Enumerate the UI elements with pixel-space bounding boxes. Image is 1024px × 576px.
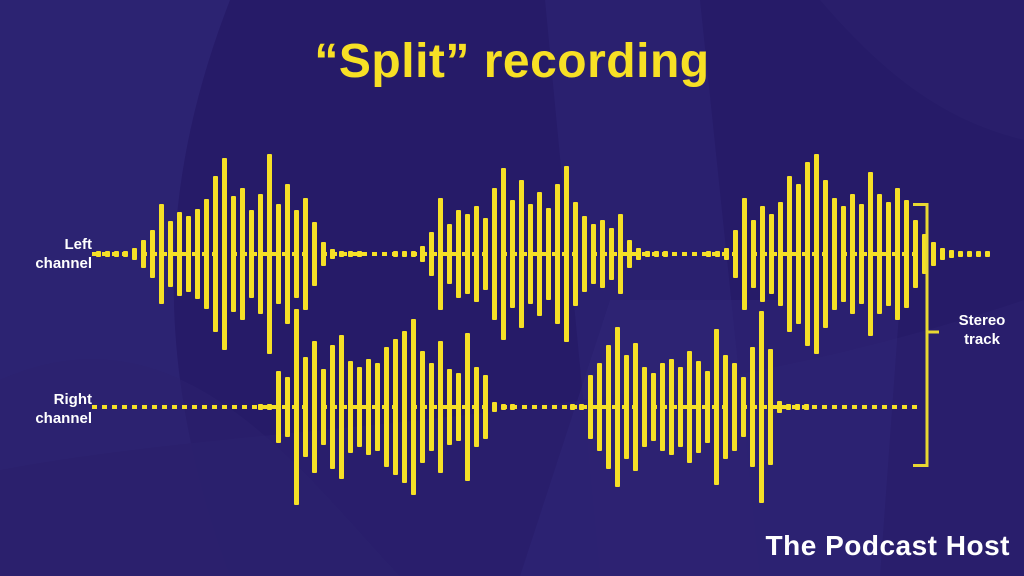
waveform-bar — [832, 198, 837, 310]
waveform-bar — [669, 359, 674, 455]
waveform-bar — [985, 251, 990, 257]
waveform-bar — [330, 345, 335, 469]
waveform-bar — [750, 347, 755, 467]
waveform-bar — [573, 202, 578, 306]
waveform-bar — [465, 214, 470, 294]
waveform-bar — [588, 375, 593, 439]
waveform-bar — [177, 212, 182, 296]
waveform-bar — [759, 311, 764, 503]
waveform-bar — [429, 363, 434, 451]
waveform-bar — [645, 251, 650, 257]
waveform-bar — [760, 206, 765, 302]
waveform-bar — [705, 371, 710, 443]
waveform-bar — [786, 404, 791, 410]
waveform-bar — [168, 221, 173, 287]
waveform-bar — [276, 204, 281, 304]
waveform-bar — [231, 196, 236, 312]
waveform-bar — [456, 373, 461, 441]
waveform-bar — [366, 359, 371, 455]
waveform-bar — [258, 404, 263, 410]
waveform-bar — [886, 202, 891, 306]
waveform-bar — [723, 355, 728, 459]
waveform-bar — [715, 251, 720, 257]
waveform-bar — [303, 357, 308, 457]
waveform-bar — [660, 363, 665, 451]
waveform-bar — [348, 361, 353, 453]
waveform-bar — [384, 347, 389, 467]
waveform-bar — [814, 154, 819, 354]
waveform-bar — [636, 248, 641, 260]
waveform-bar — [339, 335, 344, 479]
waveform-bar — [546, 208, 551, 300]
waveform-bar — [375, 363, 380, 451]
waveform-bar — [627, 240, 632, 268]
waveform-bar — [795, 404, 800, 410]
waveform-bar — [267, 404, 272, 410]
waveform-bar — [615, 327, 620, 487]
waveform-bar — [609, 228, 614, 280]
waveform-bar — [732, 363, 737, 451]
waveform-bar — [606, 345, 611, 469]
waveform-bar — [294, 309, 299, 505]
waveform-bar — [492, 188, 497, 320]
waveform-bar — [769, 214, 774, 294]
waveform-bar — [132, 248, 137, 260]
waveform-bar — [651, 373, 656, 441]
waveform-bar — [501, 168, 506, 340]
waveform-burst — [96, 154, 362, 354]
waveform-bar — [579, 404, 584, 410]
waveform-bar — [276, 371, 281, 443]
waveform-bar — [249, 210, 254, 298]
waveform-bar — [420, 351, 425, 463]
waveform-bar — [483, 218, 488, 290]
waveform-bar — [510, 200, 515, 308]
waveform-bar — [624, 355, 629, 459]
waveform-bar — [438, 341, 443, 473]
waveform-bar — [663, 251, 668, 257]
waveform-bar — [348, 251, 353, 257]
waveform-bar — [285, 184, 290, 324]
waveform-bar — [777, 401, 782, 413]
waveform-bar — [141, 240, 146, 268]
waveform-bar — [687, 351, 692, 463]
stereo-track-label: Stereo track — [944, 312, 1020, 350]
waveform-bar — [411, 251, 416, 257]
waveform-bar — [393, 251, 398, 257]
waveform-bar — [321, 369, 326, 445]
waveform-bar — [537, 192, 542, 316]
waveform-bar — [742, 198, 747, 310]
waveform-bar — [823, 180, 828, 328]
stereo-track-label-line2: track — [944, 331, 1020, 350]
left-channel-waveform — [92, 154, 990, 354]
waveform-bar — [591, 224, 596, 284]
waveform-bar — [733, 230, 738, 278]
waveform-burst — [258, 309, 515, 505]
waveform-bar — [357, 367, 362, 447]
waveform-bar — [501, 404, 506, 410]
waveform-bar — [510, 404, 515, 410]
waveform-bar — [976, 251, 981, 257]
waveform-bar — [240, 188, 245, 320]
waveform-bar — [678, 367, 683, 447]
waveform-bar — [805, 162, 810, 346]
waveform-bar — [642, 367, 647, 447]
waveform-bar — [600, 220, 605, 288]
waveform-bar — [96, 251, 101, 257]
waveform-bar — [393, 339, 398, 475]
waveform-bar — [303, 198, 308, 310]
waveform-bar — [940, 248, 945, 260]
waveform-bar — [570, 404, 575, 410]
waveform-bar — [931, 242, 936, 266]
waveform-bar — [528, 204, 533, 304]
waveform-bar — [411, 319, 416, 495]
waveform-bar — [447, 369, 452, 445]
waveform-bar — [483, 375, 488, 439]
waveform-bar — [804, 404, 809, 410]
waveform-bar — [429, 232, 434, 276]
waveform-bar — [321, 242, 326, 266]
waveform-bar — [714, 329, 719, 485]
waveform-bar — [633, 343, 638, 471]
waveform-bar — [654, 251, 659, 257]
waveform-bar — [456, 210, 461, 298]
waveform-bar — [868, 172, 873, 336]
waveform-bar — [582, 216, 587, 292]
waveform-bar — [741, 377, 746, 437]
waveform-bar — [402, 331, 407, 483]
waveform-bar — [222, 158, 227, 350]
waveform-bar — [105, 251, 110, 257]
waveform-bar — [949, 250, 954, 258]
waveform-bar — [958, 251, 963, 257]
waveform-bar — [195, 209, 200, 299]
waveform-bar — [150, 230, 155, 278]
waveform-bar — [267, 154, 272, 354]
waveform-bar — [778, 202, 783, 306]
slide-canvas: “Split” recording Left channel Right cha… — [0, 0, 1024, 576]
waveform-bar — [850, 194, 855, 314]
waveform-bar — [123, 251, 128, 257]
waveform-bar — [186, 216, 191, 292]
waveform-bar — [877, 194, 882, 314]
waveform-bar — [285, 377, 290, 437]
waveform-bar — [420, 246, 425, 262]
waveform-bar — [312, 341, 317, 473]
waveform-bar — [339, 251, 344, 257]
waveform-bar — [312, 222, 317, 286]
waveform-bar — [330, 249, 335, 259]
waveform-bar — [796, 184, 801, 324]
waveform-bar — [519, 180, 524, 328]
waveform-bar — [114, 251, 119, 257]
waveform-bar — [213, 176, 218, 332]
waveform-bar — [555, 184, 560, 324]
stereo-waveform-chart — [0, 0, 1024, 576]
waveform-bar — [904, 200, 909, 308]
waveform-bar — [859, 204, 864, 304]
waveform-bar — [402, 251, 407, 257]
waveform-bar — [618, 214, 623, 294]
waveform-bar — [787, 176, 792, 332]
waveform-bar — [159, 204, 164, 304]
waveform-bar — [768, 349, 773, 465]
waveform-bar — [492, 402, 497, 412]
podcast-host-logo: The Podcast Host — [766, 530, 1010, 562]
waveform-bar — [465, 333, 470, 481]
waveform-bar — [447, 224, 452, 284]
waveform-bar — [564, 166, 569, 342]
waveform-bar — [967, 251, 972, 257]
waveform-bar — [895, 188, 900, 320]
waveform-bar — [294, 210, 299, 298]
stereo-track-label-line1: Stereo — [944, 312, 1020, 331]
waveform-bar — [474, 367, 479, 447]
waveform-bar — [597, 363, 602, 451]
waveform-bar — [204, 199, 209, 309]
waveform-bar — [913, 220, 918, 288]
waveform-bar — [258, 194, 263, 314]
waveform-bar — [357, 251, 362, 257]
waveform-bar — [751, 220, 756, 288]
waveform-bar — [841, 206, 846, 302]
waveform-bar — [696, 361, 701, 453]
waveform-bar — [438, 198, 443, 310]
waveform-bar — [474, 206, 479, 302]
waveform-bar — [706, 251, 711, 257]
waveform-bar — [724, 248, 729, 260]
